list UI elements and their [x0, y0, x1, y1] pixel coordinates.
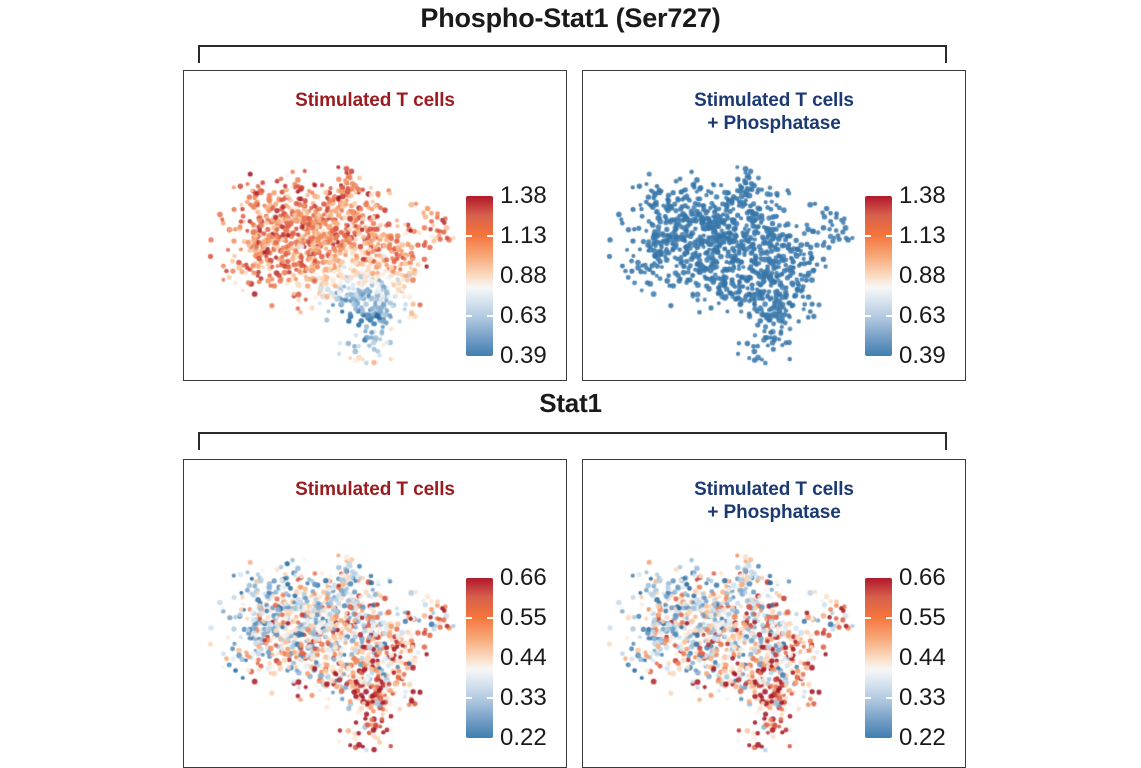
colorbar-tick: 0.44: [899, 645, 946, 671]
colorbar-tick: 1.38: [899, 183, 946, 209]
colorbar-tick: 0.33: [899, 685, 946, 711]
colorbar-tick: 0.63: [899, 303, 946, 329]
colorbar-tick: 0.33: [500, 685, 547, 711]
colorbar-stat1-stimulated: 0.66 0.55 0.44 0.33 0.22: [466, 578, 493, 738]
colorbar-tick: 0.55: [899, 605, 946, 631]
colorbar-phospho-stimulated: 1.38 1.13 0.88 0.63 0.39: [466, 196, 493, 356]
colorbar-tick: 0.55: [500, 605, 547, 631]
colorbar-gradient: [865, 578, 892, 738]
colorbar-tick: 1.13: [500, 223, 547, 249]
section-title-phospho: Phospho-Stat1 (Ser727): [0, 3, 1141, 34]
colorbar-tick: 0.44: [500, 645, 547, 671]
colorbar-tick: 0.22: [899, 725, 946, 751]
colorbar-tick: 0.39: [899, 343, 946, 369]
colorbar-phospho-phosphatase: 1.38 1.13 0.88 0.63 0.39: [865, 196, 892, 356]
colorbar-gradient: [466, 578, 493, 738]
section-bracket-phospho: [198, 45, 947, 63]
colorbar-tick: 1.38: [500, 183, 547, 209]
colorbar-gradient: [466, 196, 493, 356]
colorbar-tick-labels: 0.66 0.55 0.44 0.33 0.22: [500, 565, 547, 751]
colorbar-tick: 0.63: [500, 303, 547, 329]
colorbar-tick: 0.22: [500, 725, 547, 751]
colorbar-stat1-phosphatase: 0.66 0.55 0.44 0.33 0.22: [865, 578, 892, 738]
colorbar-tick: 1.13: [899, 223, 946, 249]
colorbar-tick: 0.39: [500, 343, 547, 369]
colorbar-tick-labels: 0.66 0.55 0.44 0.33 0.22: [899, 565, 946, 751]
section-title-stat1: Stat1: [0, 388, 1141, 419]
colorbar-gradient: [865, 196, 892, 356]
section-bracket-stat1: [198, 432, 947, 450]
figure-root: Phospho-Stat1 (Ser727) Stimulated T cell…: [0, 0, 1141, 768]
colorbar-tick: 0.88: [899, 263, 946, 289]
colorbar-tick: 0.88: [500, 263, 547, 289]
colorbar-tick-labels: 1.38 1.13 0.88 0.63 0.39: [500, 183, 547, 369]
colorbar-tick: 0.66: [500, 565, 547, 591]
colorbar-tick: 0.66: [899, 565, 946, 591]
colorbar-tick-labels: 1.38 1.13 0.88 0.63 0.39: [899, 183, 946, 369]
